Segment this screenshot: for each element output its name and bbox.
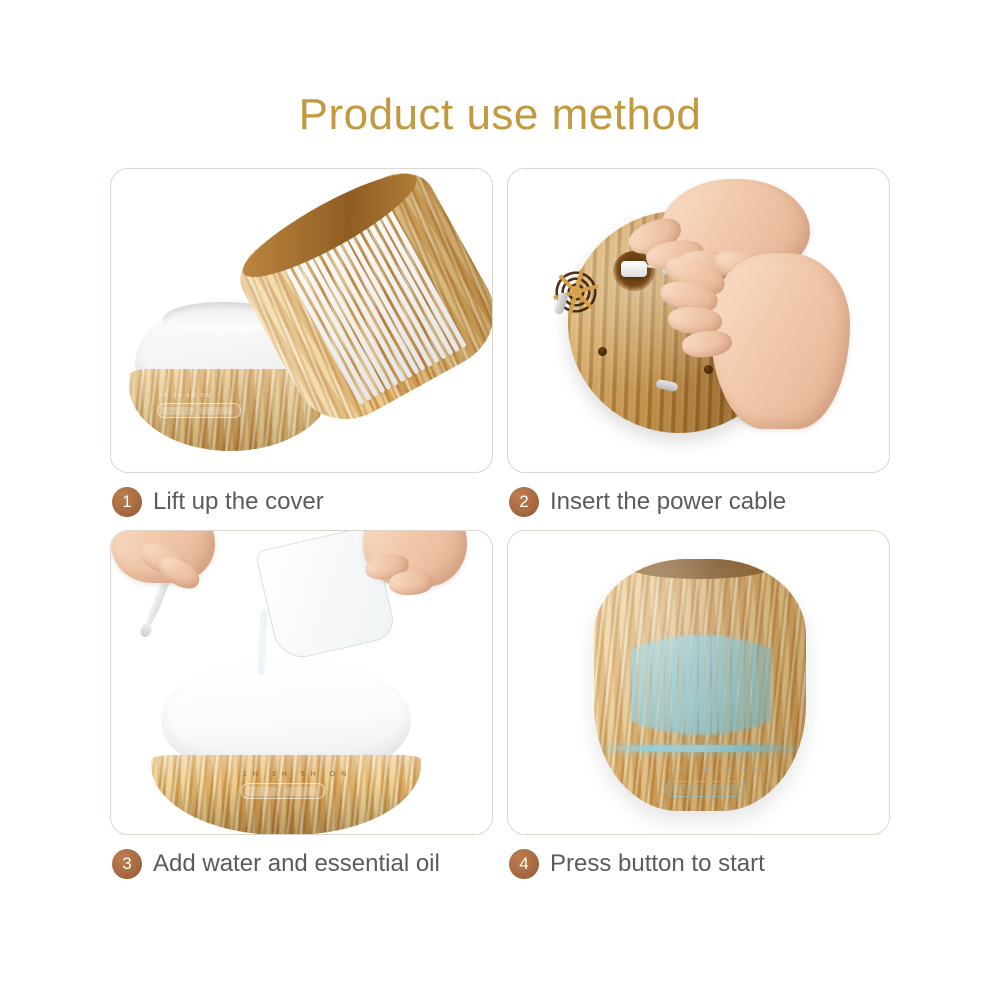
control-button-plate [157, 403, 241, 418]
hand-holding-pitcher [335, 531, 465, 631]
step-image-card-4: 1H 3H 6H ON [507, 530, 890, 835]
assembled-diffuser: 1H 3H 6H ON [594, 559, 806, 811]
dropper-tip [139, 622, 154, 639]
step-card-3: 1H 3H 6H ON 3 Add water and essential oi… [110, 530, 493, 892]
glowing-light-ring [602, 745, 797, 752]
step-image-card-2 [507, 168, 890, 473]
step-image-card-1: 1H 3H 6H ON [110, 168, 493, 473]
timer-labels: 1H 3H 6H ON [159, 393, 239, 399]
infographic-page: Product use method 1H 3H 6H ON [0, 0, 1000, 1000]
control-button-plate [666, 781, 746, 797]
wood-base: 1H 3H 6H ON [151, 755, 421, 835]
adding-water-and-oil-image: 1H 3H 6H ON [111, 531, 492, 834]
timer-labels: 1H 3H 6H ON [243, 771, 352, 778]
step-caption-1: 1 Lift up the cover [112, 485, 324, 519]
steps-grid: 1H 3H 6H ON 1 [110, 168, 890, 888]
hand-holding-dropper [111, 531, 231, 617]
step-caption-4: 4 Press button to start [509, 847, 765, 881]
diffuser-top-rim [628, 559, 772, 579]
power-button [245, 787, 278, 796]
step-number-badge-3: 3 [112, 849, 142, 879]
step-card-2: 2 Insert the power cable [507, 168, 890, 530]
step-caption-2: 2 Insert the power cable [509, 485, 786, 519]
step-label-2: Insert the power cable [550, 488, 786, 516]
step-number-badge-4: 4 [509, 849, 539, 879]
diffuser-powered-on-image: 1H 3H 6H ON [508, 531, 889, 834]
diffuser-base-and-cover-image: 1H 3H 6H ON [111, 169, 492, 472]
step-card-4: 1H 3H 6H ON 4 Press button to start [507, 530, 890, 892]
page-title: Product use method [0, 93, 1000, 137]
control-button-plate [241, 783, 325, 799]
power-button [670, 784, 702, 793]
step-label-1: Lift up the cover [153, 488, 324, 516]
timer-labels: 1H 3H 6H ON [670, 768, 762, 774]
step-number-badge-2: 2 [509, 487, 539, 517]
step-caption-3: 3 Add water and essential oil [112, 847, 440, 881]
step-image-card-3: 1H 3H 6H ON [110, 530, 493, 835]
inserting-power-cable-image [508, 169, 889, 472]
timer-button [284, 787, 317, 796]
screw-hole [598, 347, 607, 356]
step-card-1: 1H 3H 6H ON 1 [110, 168, 493, 530]
step-number-badge-1: 1 [112, 487, 142, 517]
glowing-vent-slats [632, 635, 772, 736]
diffuser-open-body: 1H 3H 6H ON [151, 659, 421, 834]
timer-button [200, 407, 233, 415]
power-button [161, 407, 194, 415]
step-label-4: Press button to start [550, 850, 765, 878]
hand-inserting-cable [658, 239, 848, 429]
step-label-3: Add water and essential oil [153, 850, 440, 878]
timer-button [707, 784, 739, 793]
